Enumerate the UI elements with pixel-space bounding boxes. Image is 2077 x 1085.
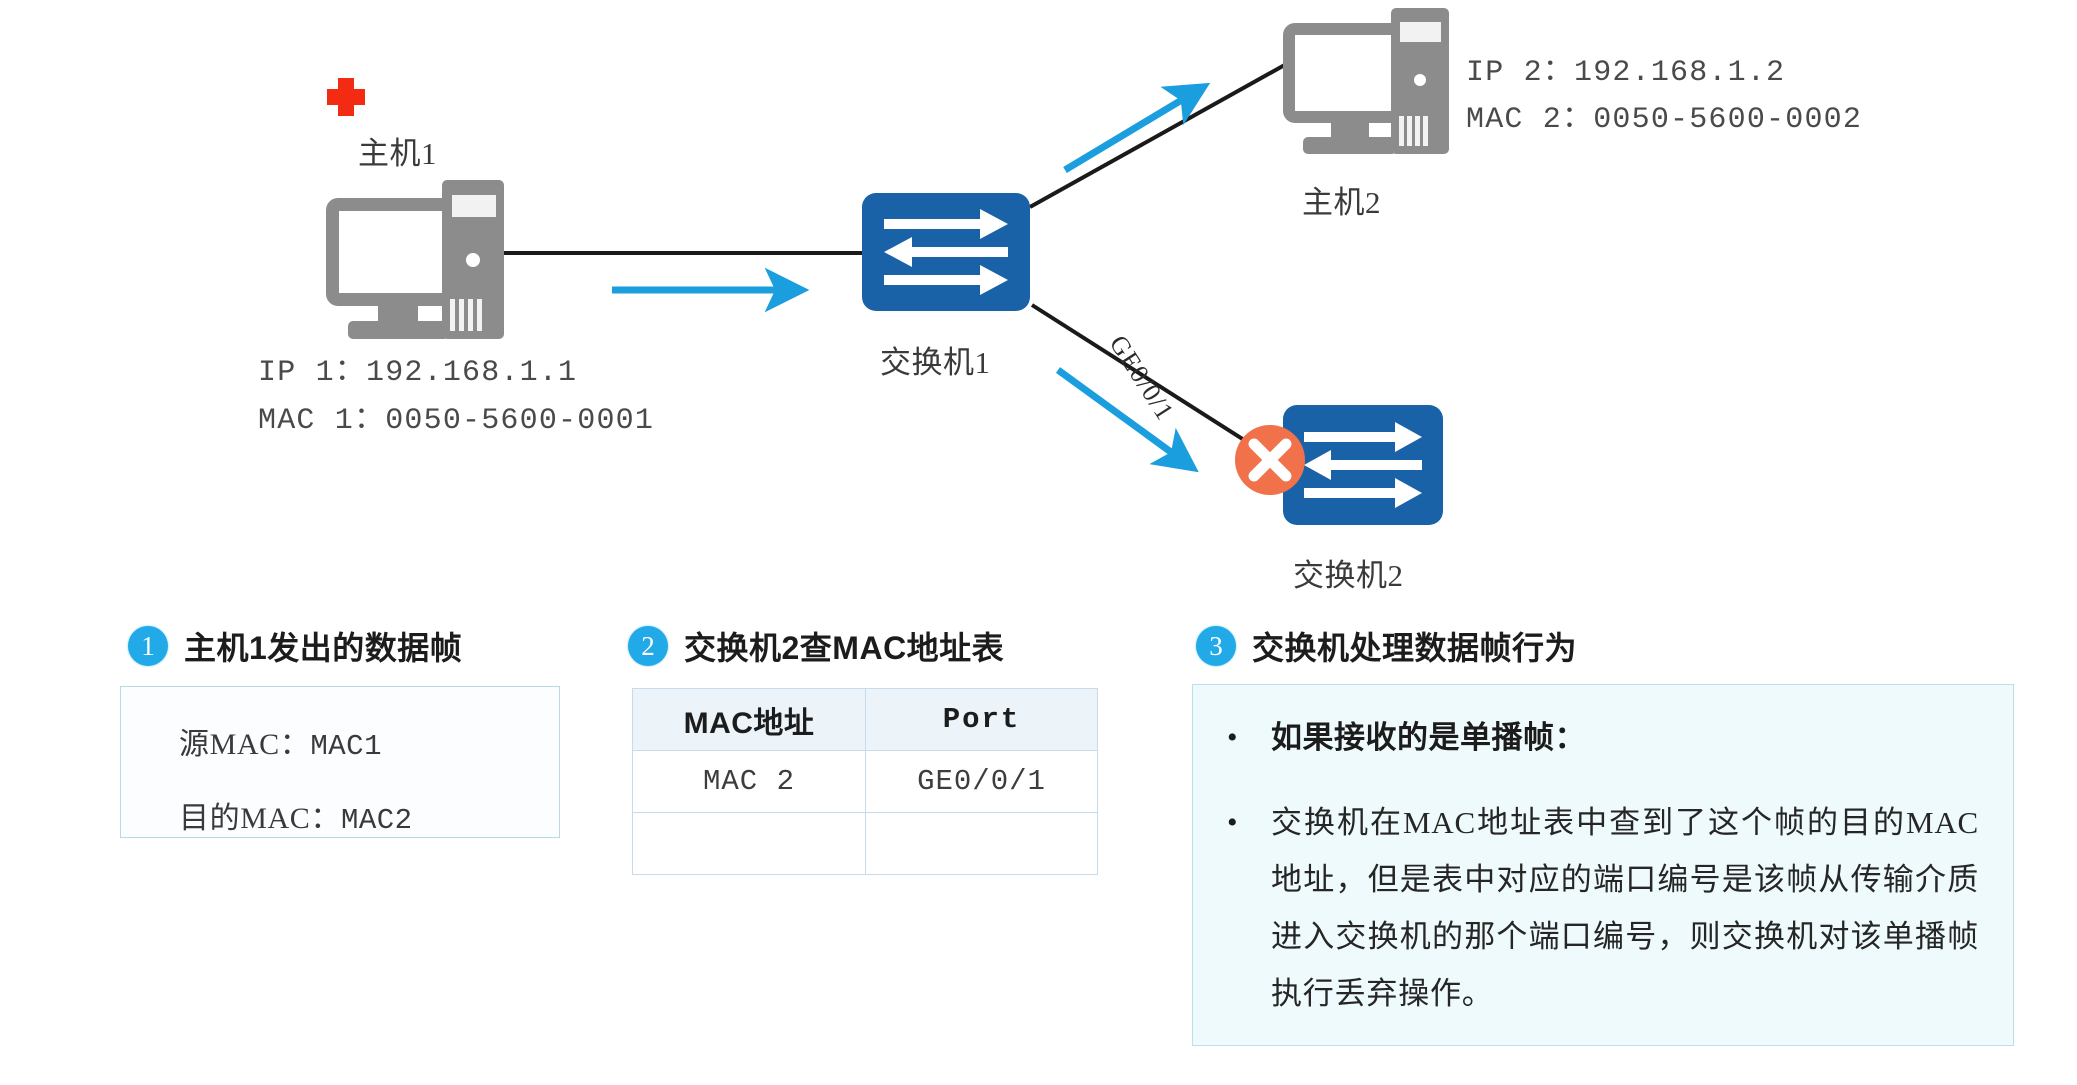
switch1-label: 交换机1: [880, 337, 991, 382]
section-1-badge: 1: [128, 626, 168, 666]
behaviour-bullet-1: • 如果接收的是单播帧：: [1219, 709, 1979, 766]
section-1-title: 主机1发出的数据帧: [184, 623, 462, 669]
section-3-badge: 3: [1196, 626, 1236, 666]
host2-mac-text: MAC 2：0050-5600-0002: [1466, 97, 1862, 144]
frame-dst-row: 目的MAC：MAC2: [179, 783, 559, 857]
table-cell-mac: [633, 813, 866, 875]
section-3-header: 3 交换机处理数据帧行为: [1196, 624, 1577, 668]
section-2-badge: 2: [628, 626, 668, 666]
switch-icon: [1283, 405, 1443, 525]
block-x-icon: [1235, 425, 1305, 495]
section-2-header: 2 交换机2查MAC地址表: [628, 624, 1004, 668]
bullet-marker: •: [1219, 794, 1271, 851]
frame-dst-value: MAC2: [341, 804, 413, 837]
section-1-header: 1 主机1发出的数据帧: [128, 624, 462, 668]
frame-dst-label: 目的MAC：: [179, 802, 341, 835]
table-header-port: Port: [866, 689, 1098, 751]
pc-icon: [326, 180, 504, 339]
host2-label: 主机2: [1302, 177, 1381, 222]
section-3-title: 交换机处理数据帧行为: [1252, 623, 1577, 669]
host2-ip-text: IP 2：192.168.1.2: [1466, 50, 1785, 97]
section-3: 3 交换机处理数据帧行为: [1196, 624, 1577, 668]
table-cell-port: GE0/0/1: [866, 751, 1098, 813]
bullet-marker: •: [1219, 709, 1271, 766]
frame-src-row: 源MAC：MAC1: [179, 709, 559, 783]
behaviour-bullet-2: • 交换机在MAC地址表中查到了这个帧的目的MAC地址，但是表中对应的端口编号是…: [1219, 794, 1979, 1022]
red-cross-icon: [327, 78, 365, 116]
section-1: 1 主机1发出的数据帧: [128, 624, 462, 668]
switch-icon: [862, 193, 1030, 311]
table-header-row: MAC地址 Port: [633, 689, 1098, 751]
switch2-label: 交换机2: [1293, 550, 1404, 595]
bullet-text: 如果接收的是单播帧：: [1271, 709, 1586, 766]
diagram-page: 主机1 IP 1：192.168.1.1 MAC 1：0050-5600-000…: [0, 0, 2077, 1085]
frame-content-box: 源MAC：MAC1 目的MAC：MAC2: [120, 686, 560, 838]
frame-src-value: MAC1: [310, 730, 382, 763]
link-switch1-host2: [1030, 62, 1290, 207]
host1-ip-text: IP 1：192.168.1.1: [258, 350, 577, 397]
flow-arrow-switch1-host2: [1065, 98, 1185, 170]
table-row: MAC 2 GE0/0/1: [633, 751, 1098, 813]
host1-label: 主机1: [358, 128, 437, 173]
bullet-gap: [1219, 766, 1979, 794]
behaviour-content-box: • 如果接收的是单播帧： • 交换机在MAC地址表中查到了这个帧的目的MAC地址…: [1192, 684, 2014, 1046]
section-2-title: 交换机2查MAC地址表: [684, 623, 1004, 669]
host1-mac-text: MAC 1：0050-5600-0001: [258, 398, 654, 445]
frame-src-label: 源MAC：: [179, 728, 310, 761]
table-cell-port: [866, 813, 1098, 875]
mac-address-table: MAC地址 Port MAC 2 GE0/0/1: [632, 688, 1098, 875]
bullet-text: 交换机在MAC地址表中查到了这个帧的目的MAC地址，但是表中对应的端口编号是该帧…: [1271, 794, 1979, 1022]
section-2: 2 交换机2查MAC地址表: [628, 624, 1004, 668]
table-header-mac: MAC地址: [633, 689, 866, 751]
table-cell-mac: MAC 2: [633, 751, 866, 813]
pc-icon: [1283, 8, 1449, 154]
table-row: [633, 813, 1098, 875]
